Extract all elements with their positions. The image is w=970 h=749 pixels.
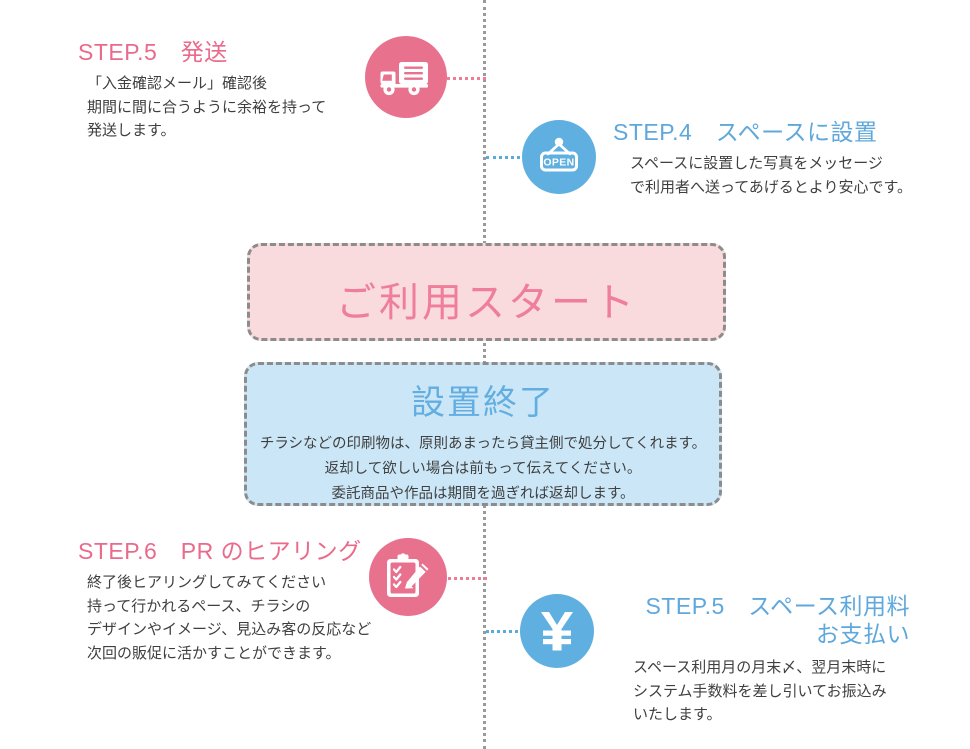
yen-icon [520, 594, 594, 668]
step-shipping-body: 「入金確認メール」確認後 期間に間に合うように余裕を持って 発送します。 [78, 72, 378, 143]
clipboard-pencil-icon [369, 538, 447, 616]
step-install-text: STEP.4 スペースに設置 スペースに設置した写真をメッセージ で利用者へ送っ… [613, 118, 953, 199]
step-hearing-title: STEP.6 PR のヒアリング [78, 537, 408, 565]
open-sign-label: OPEN [543, 157, 574, 169]
step-hearing-text: STEP.6 PR のヒアリング 終了後ヒアリングしてみてください 持って行かれ… [78, 537, 408, 666]
panel-install-finish: 設置終了 チラシなどの印刷物は、原則あまったら貸主側で処分してくれます。 返却し… [244, 362, 722, 506]
connector-install [486, 156, 526, 159]
step-shipping-title: STEP.5 発送 [78, 38, 378, 66]
truck-icon [365, 36, 447, 118]
connector-payment [486, 630, 524, 633]
step-install-title: STEP.4 スペースに設置 [613, 118, 953, 146]
step-hearing-body: 終了後ヒアリングしてみてください 持って行かれるペース、チラシの デザインやイメ… [78, 571, 408, 666]
panel-service-start: ご利用スタート [247, 243, 726, 341]
panel-install-finish-body: チラシなどの印刷物は、原則あまったら貸主側で処分してくれます。 返却して欲しい場… [247, 432, 719, 507]
step-payment-body: スペース利用月の月末〆、翌月末時に システム手数料を差し引いてお振込み いたしま… [605, 656, 955, 727]
panel-install-finish-title: 設置終了 [247, 375, 719, 424]
panel-service-start-title: ご利用スタート [250, 270, 723, 328]
step-payment-text: STEP.5 スペース利用料 お支払い スペース利用月の月末〆、翌月末時に シス… [605, 592, 955, 727]
step-shipping-text: STEP.5 発送 「入金確認メール」確認後 期間に間に合うように余裕を持って … [78, 38, 378, 143]
step-install-body: スペースに設置した写真をメッセージ で利用者へ送ってあげるとより安心です。 [613, 152, 953, 199]
step-payment-title: STEP.5 スペース利用料 お支払い [605, 592, 910, 648]
connector-hearing [443, 577, 487, 580]
infographic-flow-diagram: STEP.5 発送 「入金確認メール」確認後 期間に間に合うように余裕を持って … [0, 0, 970, 749]
open-sign-icon: OPEN [522, 120, 596, 194]
